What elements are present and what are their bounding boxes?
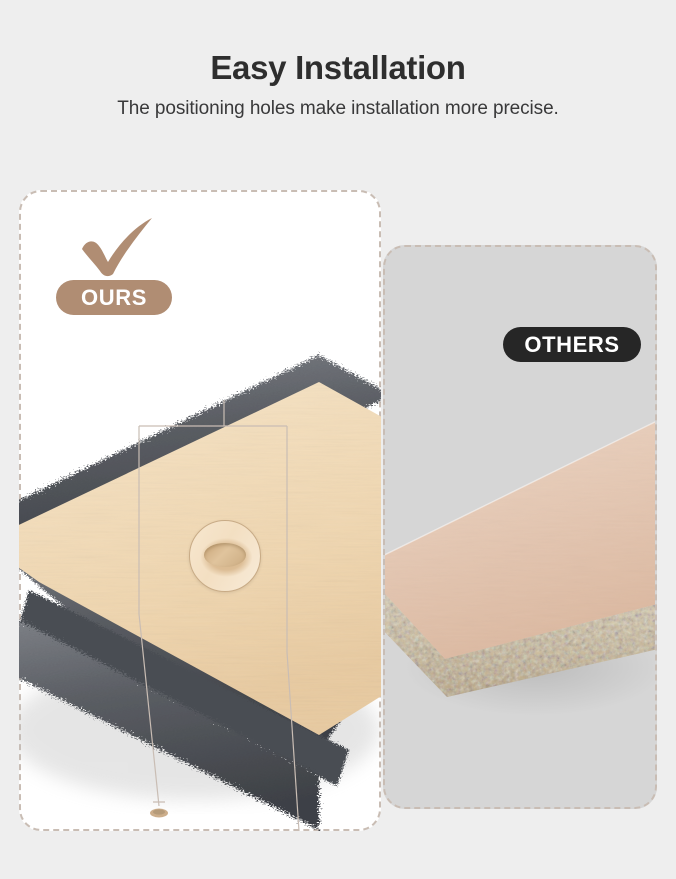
particleboard-graphic bbox=[385, 397, 655, 697]
page-subtitle: The positioning holes make installation … bbox=[0, 98, 676, 120]
ours-badge: OURS bbox=[56, 280, 172, 315]
page-title: Easy Installation bbox=[0, 50, 676, 86]
ours-badge-label: OURS bbox=[81, 285, 147, 311]
others-badge: OTHERS bbox=[503, 327, 641, 362]
check-mark-icon bbox=[78, 216, 158, 278]
header: Easy Installation The positioning holes … bbox=[0, 0, 676, 120]
others-badge-label: OTHERS bbox=[524, 332, 619, 358]
